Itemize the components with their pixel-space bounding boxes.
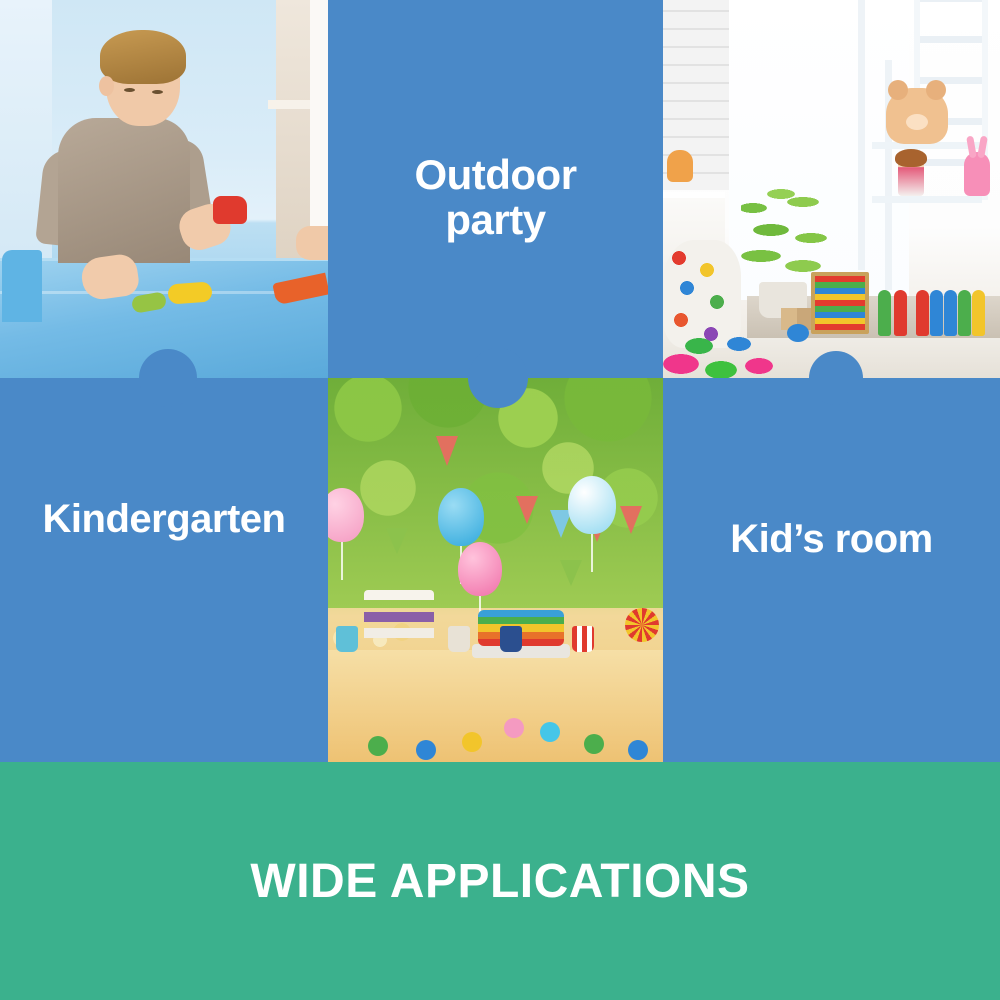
yellow-playdough	[167, 281, 212, 304]
bunting-flag	[560, 560, 582, 586]
shelf-lower	[872, 196, 982, 203]
bunting-flag	[386, 528, 408, 554]
bowling-pin	[894, 290, 907, 336]
party-cup	[448, 626, 470, 652]
teacup	[500, 626, 522, 652]
bowling-pin-set	[878, 284, 996, 336]
kids-room-label: Kid’s room	[663, 518, 1000, 561]
bowling-pin	[944, 290, 957, 336]
torso-tshirt	[58, 118, 190, 263]
doll-toy	[898, 152, 924, 196]
ball-garland	[328, 710, 663, 756]
garland-ball	[504, 718, 524, 738]
bunting-flag	[516, 496, 538, 524]
bowling-pin	[972, 290, 985, 336]
ear	[99, 76, 114, 96]
bunting-flag	[436, 436, 458, 466]
bowling-pin	[958, 290, 971, 336]
application-collage: Outdoor party	[0, 0, 1000, 1000]
garland-ball	[416, 740, 436, 760]
garland-ball	[540, 722, 560, 742]
kindergarten-label: Kindergarten	[0, 498, 328, 541]
wide-applications-banner: WIDE APPLICATIONS	[0, 762, 1000, 1000]
puzzle-knob-middle	[468, 348, 528, 408]
puzzle-knob-left	[139, 349, 197, 407]
kids-room-panel[interactable]: Kid’s room	[663, 378, 1000, 762]
playdough-photo	[0, 0, 328, 378]
blue-ball	[787, 324, 809, 342]
cupcake-stand	[364, 590, 434, 650]
garland-ball	[368, 736, 388, 756]
polka-cup	[572, 626, 594, 652]
balloon-lightblue	[568, 476, 616, 534]
garland-ball	[628, 740, 648, 760]
bowling-pin	[930, 290, 943, 336]
outdoor-party-panel[interactable]: Outdoor party	[328, 0, 663, 378]
small-plush-toy	[667, 150, 693, 182]
balloon-blue	[438, 488, 484, 546]
swirl-lollipop	[625, 608, 659, 642]
blue-chair	[2, 250, 42, 322]
red-playdough	[213, 196, 247, 224]
party-cup	[336, 626, 358, 652]
garland-ball	[462, 732, 482, 752]
pink-bunny-toy	[964, 152, 990, 196]
playroom-photo	[663, 0, 1000, 378]
bowling-pin	[916, 290, 929, 336]
second-child-hand	[296, 226, 328, 260]
teddy-bear-muzzle	[906, 114, 928, 130]
kindergarten-panel[interactable]: Kindergarten	[0, 378, 328, 762]
window-frame	[858, 0, 865, 270]
outdoor-party-label: Outdoor party	[328, 152, 663, 243]
bowling-pin	[878, 290, 891, 336]
eye-left	[124, 88, 135, 92]
bunting-flag	[620, 506, 642, 534]
party-photo	[328, 378, 663, 762]
eye-right	[152, 90, 163, 94]
garland-ball	[584, 734, 604, 754]
banner-title: WIDE APPLICATIONS	[250, 854, 749, 909]
floor-toys	[663, 330, 783, 378]
hair	[100, 30, 186, 84]
abacus-toy	[811, 272, 869, 334]
puzzle-knob-right	[809, 351, 863, 405]
balloon-pink	[458, 542, 502, 596]
